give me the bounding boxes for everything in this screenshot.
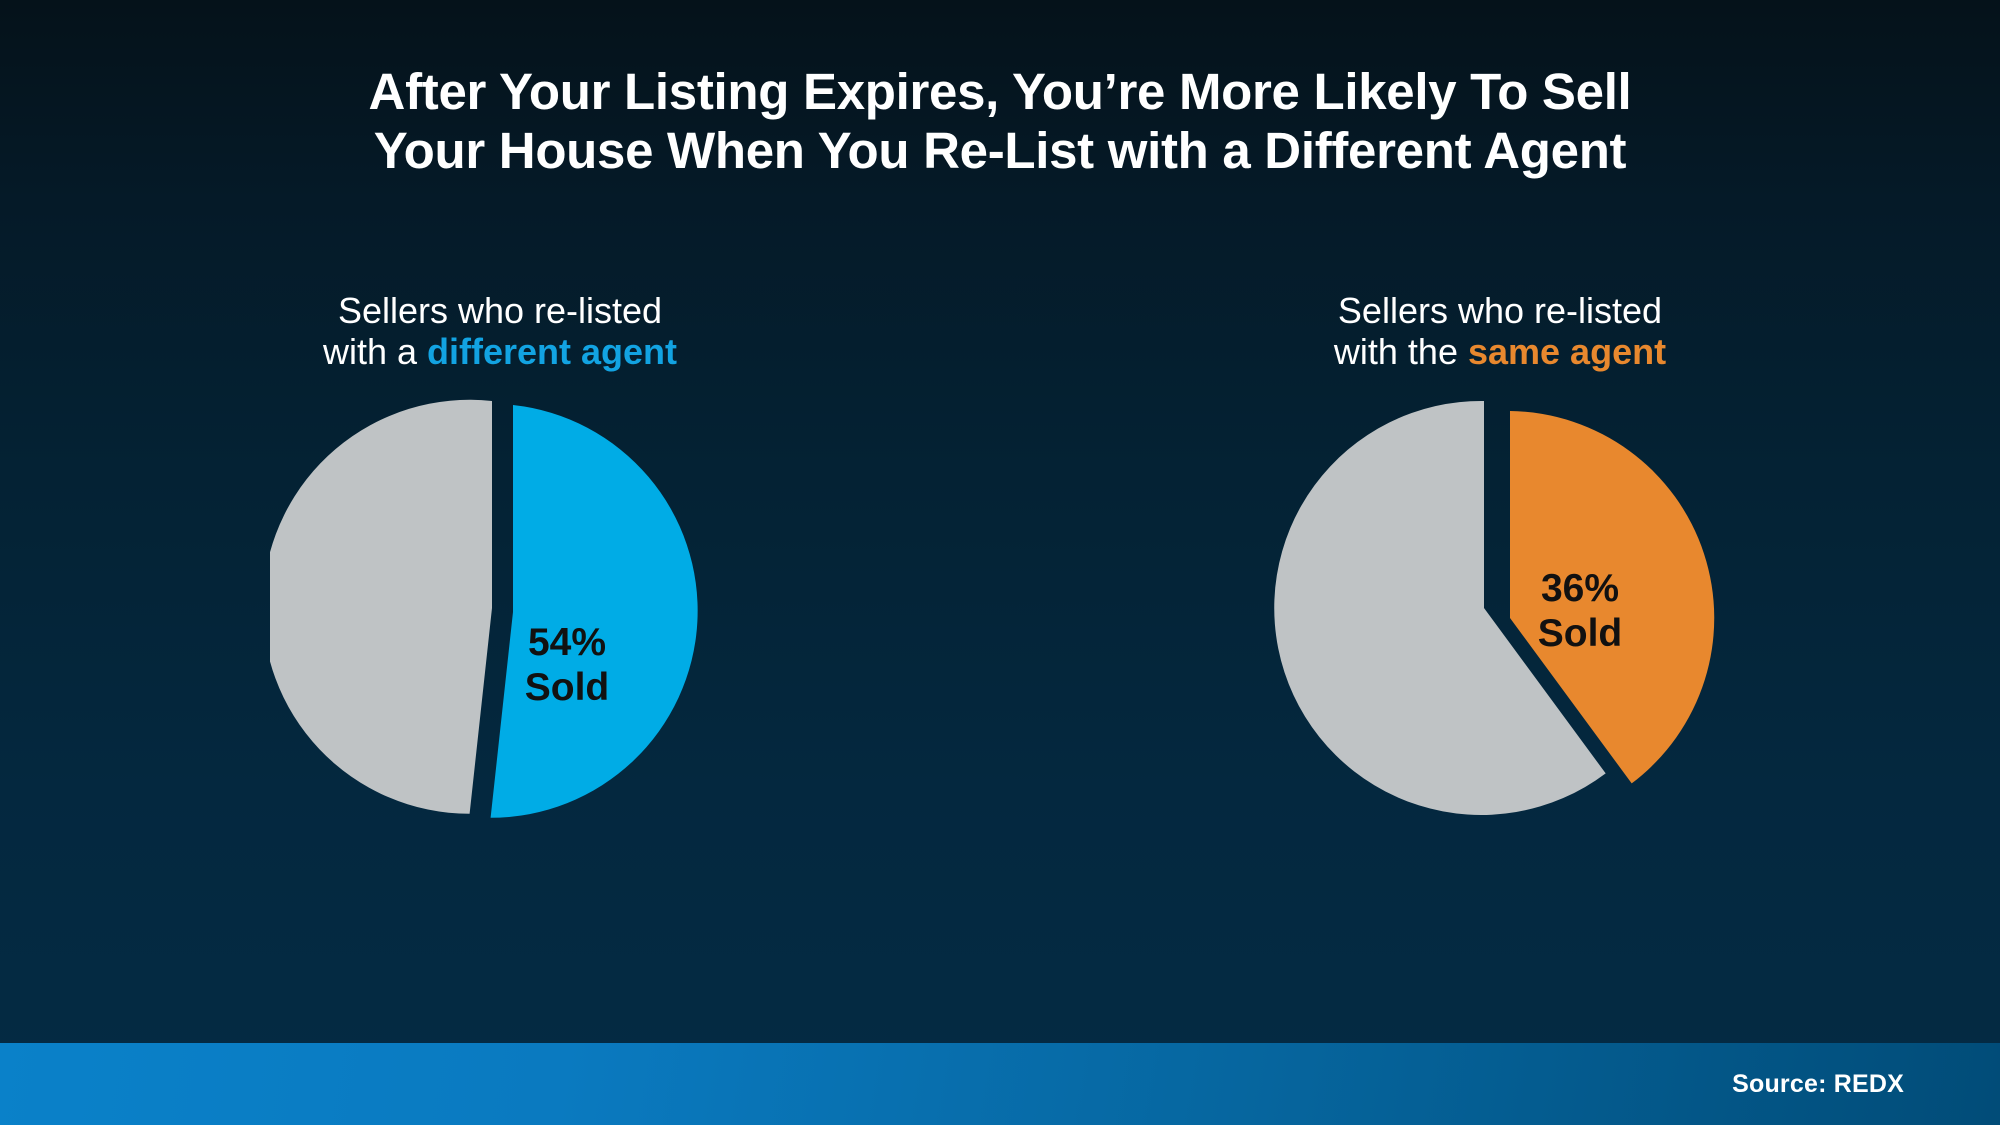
- pie-chart-different-agent: 54% Sold: [270, 396, 730, 836]
- page-title: After Your Listing Expires, You’re More …: [0, 62, 2000, 180]
- chart-subtitle-different-agent: Sellers who re-listed with a different a…: [323, 290, 677, 372]
- pie-label-percent-left: 54%: [528, 621, 606, 664]
- charts-row: Sellers who re-listed with a different a…: [0, 290, 2000, 970]
- chart-panel-different-agent: Sellers who re-listed with a different a…: [0, 290, 1000, 970]
- pie-chart-same-agent: 36% Sold: [1270, 396, 1730, 836]
- footer-bar: Source: REDX: [0, 1043, 2000, 1125]
- chart-subtitle-same-agent: Sellers who re-listed with the same agen…: [1334, 290, 1666, 372]
- subtitle-line-1: Sellers who re-listed: [1338, 290, 1662, 331]
- source-attribution: Source: REDX: [1732, 1070, 2000, 1099]
- pie-slice-sold-left: [491, 405, 698, 818]
- pie-label-percent-right: 36%: [1541, 567, 1619, 610]
- pie-label-word-left: Sold: [525, 666, 610, 709]
- subtitle-prefix: with a: [323, 331, 427, 372]
- subtitle-line-1: Sellers who re-listed: [338, 290, 662, 331]
- infographic-root: After Your Listing Expires, You’re More …: [0, 0, 2000, 1125]
- subtitle-highlight-same-agent: same agent: [1468, 331, 1666, 372]
- pie-slice-not-sold-left: [270, 400, 492, 814]
- pie-label-word-right: Sold: [1538, 612, 1623, 655]
- subtitle-prefix: with the: [1334, 331, 1468, 372]
- page-title-line-1: After Your Listing Expires, You’re More …: [180, 62, 1820, 121]
- page-title-line-2: Your House When You Re-List with a Diffe…: [180, 121, 1820, 180]
- chart-panel-same-agent: Sellers who re-listed with the same agen…: [1000, 290, 2000, 970]
- subtitle-highlight-different-agent: different agent: [427, 331, 677, 372]
